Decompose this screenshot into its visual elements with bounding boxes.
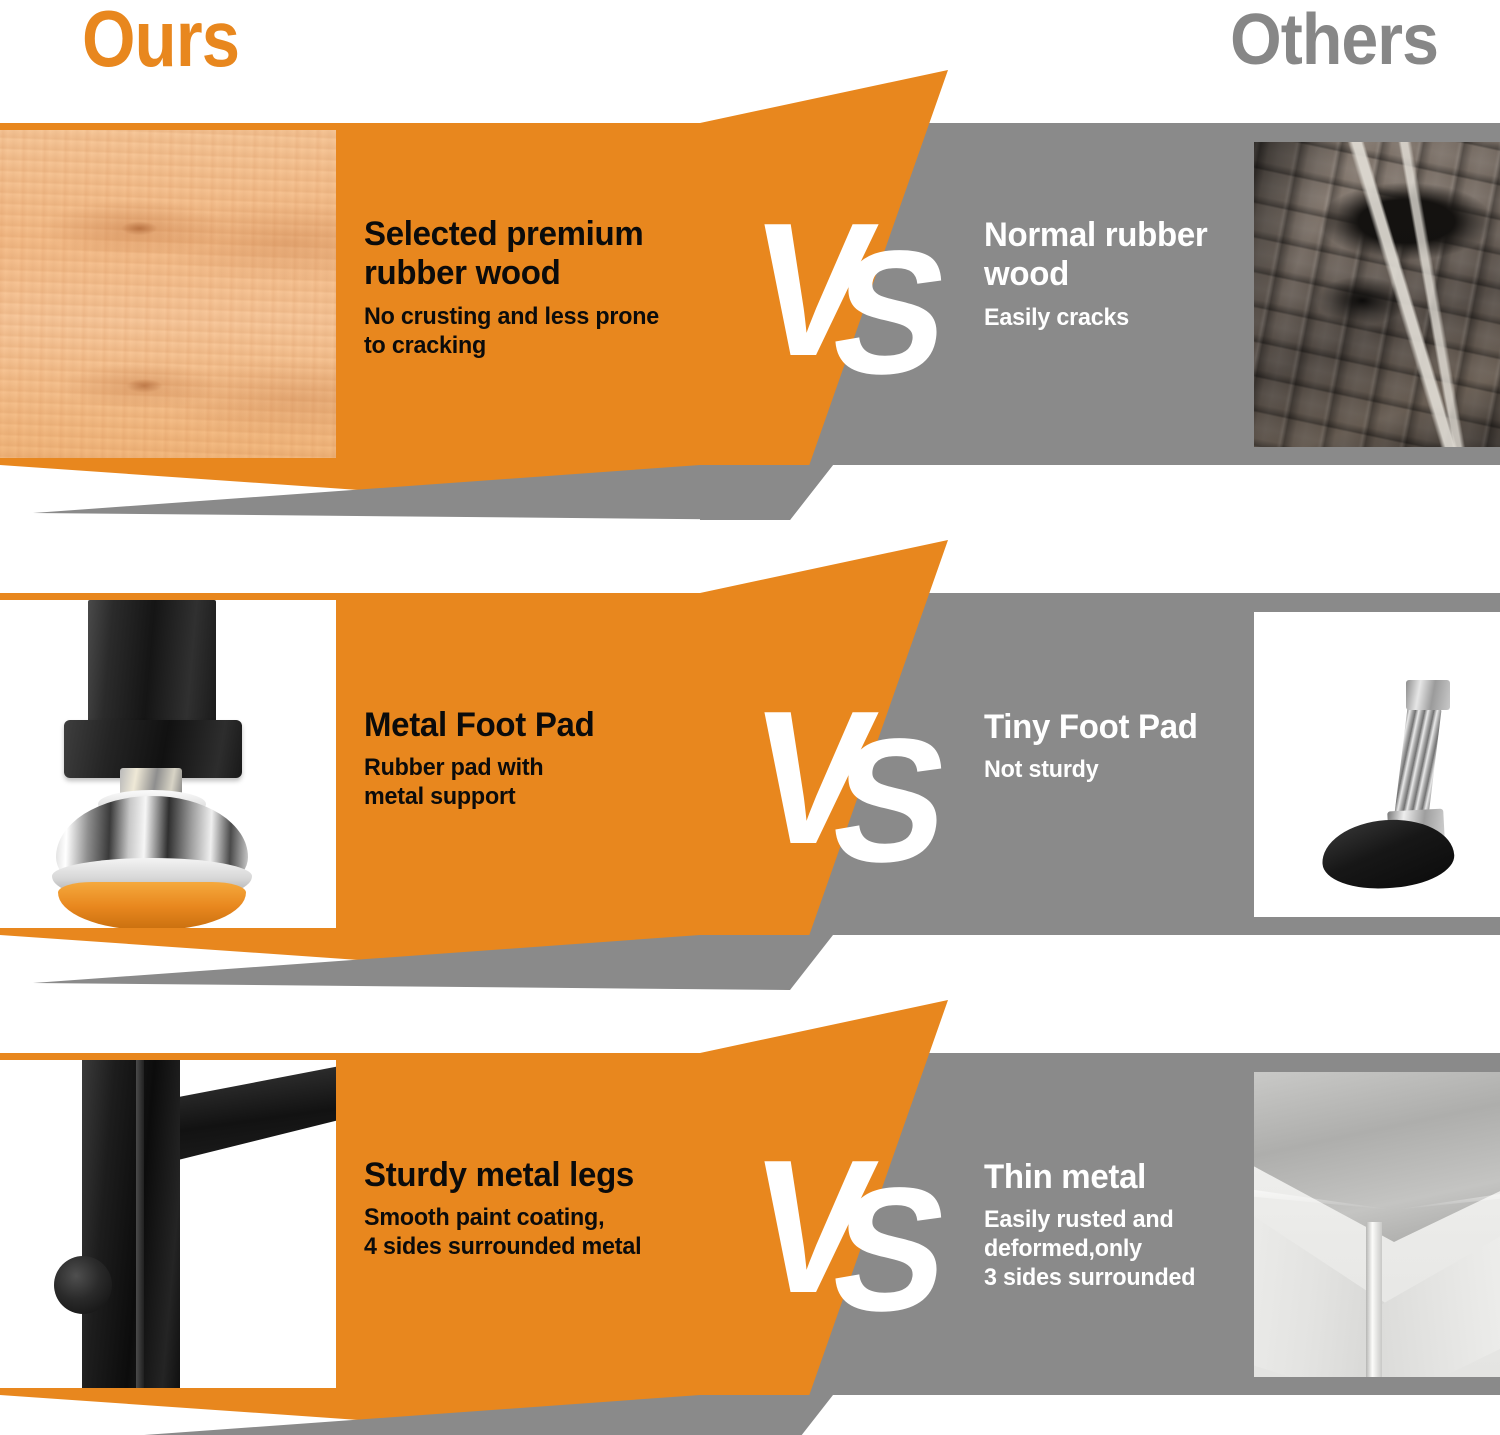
- cracked-wood-photo: [1254, 142, 1500, 447]
- comparison-infographic: Ours Others Selected premium rubber wood…: [0, 0, 1500, 1435]
- ours-image-panel: [0, 600, 336, 928]
- corner-edge: [1366, 1222, 1382, 1377]
- ours-text-block: Selected premium rubber wood No crusting…: [364, 215, 734, 360]
- top-nut: [1406, 680, 1450, 710]
- others-title: Thin metal: [984, 1158, 1256, 1197]
- leg-post-edge: [136, 1060, 144, 1388]
- comparison-row-rubber-wood: Selected premium rubber wood No crusting…: [0, 70, 1500, 520]
- others-text-block: Normal rubber wood Easily cracks: [984, 216, 1264, 333]
- leg-crossbar: [170, 1066, 336, 1162]
- sturdy-metal-leg-photo: [0, 1060, 336, 1388]
- others-title: Normal rubber wood: [984, 216, 1256, 295]
- ours-image-panel: [0, 130, 336, 458]
- ours-title: Selected premium rubber wood: [364, 215, 723, 294]
- tiny-foot-pad-photo: [1254, 612, 1500, 917]
- others-subtitle: Easily cracks: [984, 304, 1256, 333]
- leg-post: [82, 1060, 180, 1388]
- others-image-panel: [1242, 601, 1500, 928]
- others-text-block: Tiny Foot Pad Not sturdy: [984, 708, 1264, 785]
- premium-rubber-wood-photo: [0, 130, 336, 458]
- adjustment-knob: [54, 1256, 112, 1314]
- comparison-row-metal-legs: Sturdy metal legs Smooth paint coating, …: [0, 1000, 1500, 1435]
- others-image-panel: [1242, 1061, 1500, 1388]
- ours-subtitle: Smooth paint coating, 4 sides surrounded…: [364, 1204, 723, 1262]
- ours-title: Metal Foot Pad: [364, 706, 723, 745]
- others-image-panel: [1242, 131, 1500, 458]
- ours-image-panel: [0, 1060, 336, 1388]
- table-top-surface: [1254, 1072, 1500, 1242]
- ours-title: Sturdy metal legs: [364, 1156, 723, 1195]
- leg-shaft: [88, 600, 216, 732]
- others-subtitle: Not sturdy: [984, 756, 1256, 785]
- others-title: Tiny Foot Pad: [984, 708, 1256, 747]
- ours-text-block: Metal Foot Pad Rubber pad with metal sup…: [364, 706, 734, 812]
- ours-subtitle: Rubber pad with metal support: [364, 754, 723, 812]
- thin-metal-corner-photo: [1254, 1072, 1500, 1377]
- ours-subtitle: No crusting and less prone to cracking: [364, 303, 723, 361]
- header-others-label: Others: [1230, 2, 1438, 80]
- ours-text-block: Sturdy metal legs Smooth paint coating, …: [364, 1156, 734, 1262]
- comparison-row-foot-pad: Metal Foot Pad Rubber pad with metal sup…: [0, 540, 1500, 990]
- orange-rubber-base: [58, 882, 246, 928]
- others-text-block: Thin metal Easily rusted and deformed,on…: [984, 1158, 1264, 1293]
- others-subtitle: Easily rusted and deformed,only 3 sides …: [984, 1206, 1256, 1292]
- metal-foot-pad-photo: [0, 600, 336, 928]
